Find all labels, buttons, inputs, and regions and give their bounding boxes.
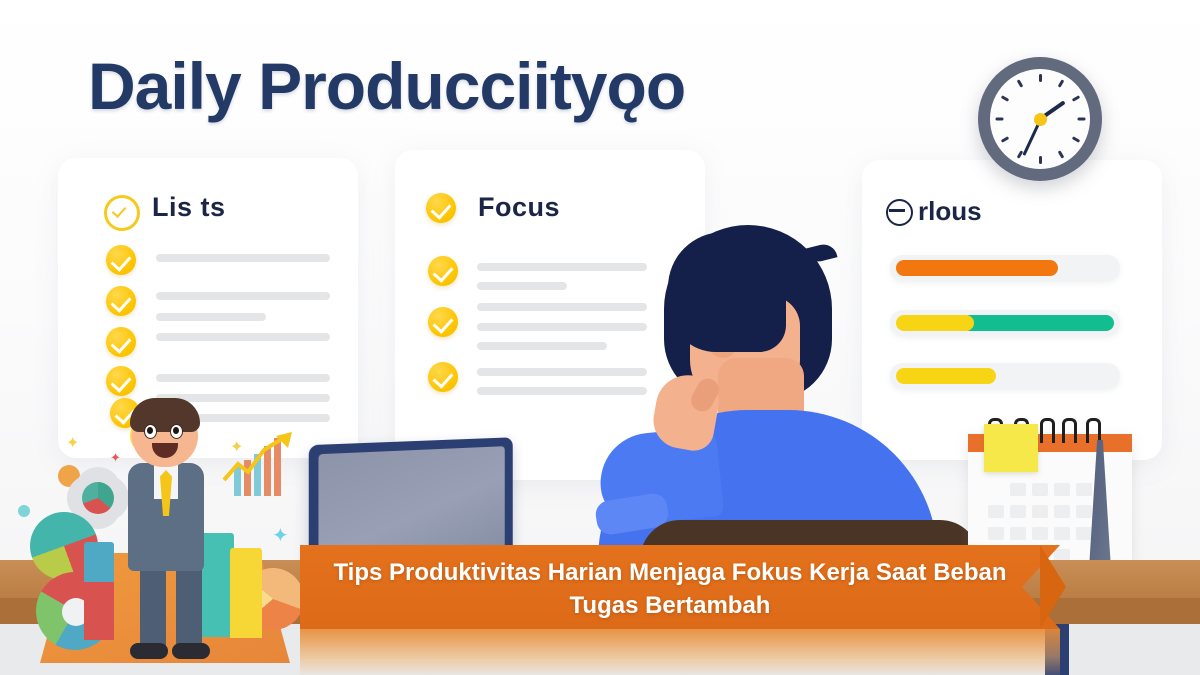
- caption-text: Tips Produktivitas Harian Menjaga Fokus …: [310, 556, 1030, 622]
- clock-tick: [1017, 79, 1024, 87]
- progress-bar-track: [890, 363, 1120, 389]
- clock-tick: [1058, 150, 1065, 158]
- clock-tick: [1001, 136, 1009, 143]
- clock-tick: [1058, 79, 1065, 87]
- clock-tick: [996, 118, 1004, 121]
- calendar-cell: [1032, 527, 1048, 540]
- calendar-cell: [1076, 505, 1092, 518]
- hours-panel-label: rlous: [918, 196, 982, 227]
- mascot-pupil: [147, 427, 153, 434]
- calendar-spiral-ring: [1040, 418, 1055, 443]
- placeholder-line: [477, 323, 647, 331]
- placeholder-line: [156, 292, 330, 300]
- calendar-spiral-ring: [1062, 418, 1077, 443]
- checklist-badge: [428, 307, 458, 337]
- banner-gradient-fade: [300, 629, 1060, 675]
- placeholder-line: [477, 387, 647, 395]
- calendar-cell: [988, 527, 1004, 540]
- sparkle-icon: ✦: [272, 526, 289, 546]
- mascot-shoe: [172, 643, 210, 659]
- checklist-badge: [428, 362, 458, 392]
- calendar-cell: [1010, 483, 1026, 496]
- clock-tick: [1072, 136, 1080, 143]
- focus-card-title: Focus: [478, 192, 560, 223]
- wall-clock: [978, 57, 1102, 181]
- clock-face: [990, 69, 1090, 169]
- placeholder-line: [156, 254, 330, 262]
- placeholder-line: [477, 342, 607, 350]
- calendar-cell: [1010, 527, 1026, 540]
- calendar-cell: [1054, 505, 1070, 518]
- teal-bar-fill: [968, 315, 1114, 331]
- check-circle-outline-icon: [104, 195, 140, 231]
- circle-minus-icon: [886, 199, 913, 226]
- calendar-cell: [988, 505, 1004, 518]
- calendar-cell: [1054, 483, 1070, 496]
- clock-tick: [1078, 118, 1086, 121]
- calendar-cell: [1032, 505, 1048, 518]
- mascot-leg: [176, 563, 202, 649]
- calendar-cell: [1076, 483, 1092, 496]
- progress-bar-track: [890, 310, 1120, 336]
- sparkle-icon: ✦: [66, 436, 79, 452]
- clock-tick: [1039, 156, 1042, 164]
- calendar-spiral-ring: [1086, 418, 1101, 443]
- calendar-cell: [1076, 527, 1092, 540]
- bar-chart-bar: [200, 533, 234, 637]
- yellow-bar-fill: [896, 315, 974, 331]
- mascot-leg: [140, 563, 166, 649]
- check-circle-icon: [426, 193, 456, 223]
- lists-card-title: Lis ts: [152, 192, 226, 223]
- checklist-badge: [106, 286, 136, 316]
- placeholder-line: [477, 303, 647, 311]
- sticky-note: [984, 424, 1038, 472]
- growth-arrow-chart: [218, 430, 304, 500]
- person-hair-front: [668, 232, 786, 352]
- sparkle-icon: ✦: [110, 451, 121, 464]
- clock-tick: [1072, 95, 1080, 102]
- checklist-badge: [106, 366, 136, 396]
- progress-bar-track: [890, 255, 1120, 281]
- decorative-dot: [18, 505, 30, 517]
- clock-tick: [1001, 95, 1009, 102]
- checklist-badge: [106, 327, 136, 357]
- mascot-shoe: [130, 643, 168, 659]
- yellow-bar-fill: [896, 368, 996, 384]
- clock-center-pin: [1034, 113, 1047, 126]
- mascot-hair: [130, 398, 200, 432]
- gear-pie-center: [82, 482, 114, 514]
- placeholder-line: [156, 333, 330, 341]
- clock-tick: [1039, 74, 1042, 82]
- placeholder-line: [477, 282, 567, 290]
- placeholder-line: [156, 313, 266, 321]
- placeholder-line: [477, 368, 647, 376]
- placeholder-line: [477, 263, 647, 271]
- bar-chart-bar: [230, 548, 262, 638]
- calendar-cell: [1010, 505, 1026, 518]
- poster-canvas: Daily Producciityǫo Lis ts Focus: [0, 0, 1200, 675]
- bar-chart-bar: [84, 542, 114, 582]
- calendar-cell: [1032, 483, 1048, 496]
- placeholder-line: [156, 374, 330, 382]
- page-title: Daily Producciityǫo: [88, 48, 685, 124]
- mascot-pupil: [173, 427, 179, 434]
- calendar-cell: [1054, 527, 1070, 540]
- checklist-badge: [106, 245, 136, 275]
- orange-bar-fill: [896, 260, 1058, 276]
- checklist-badge: [428, 256, 458, 286]
